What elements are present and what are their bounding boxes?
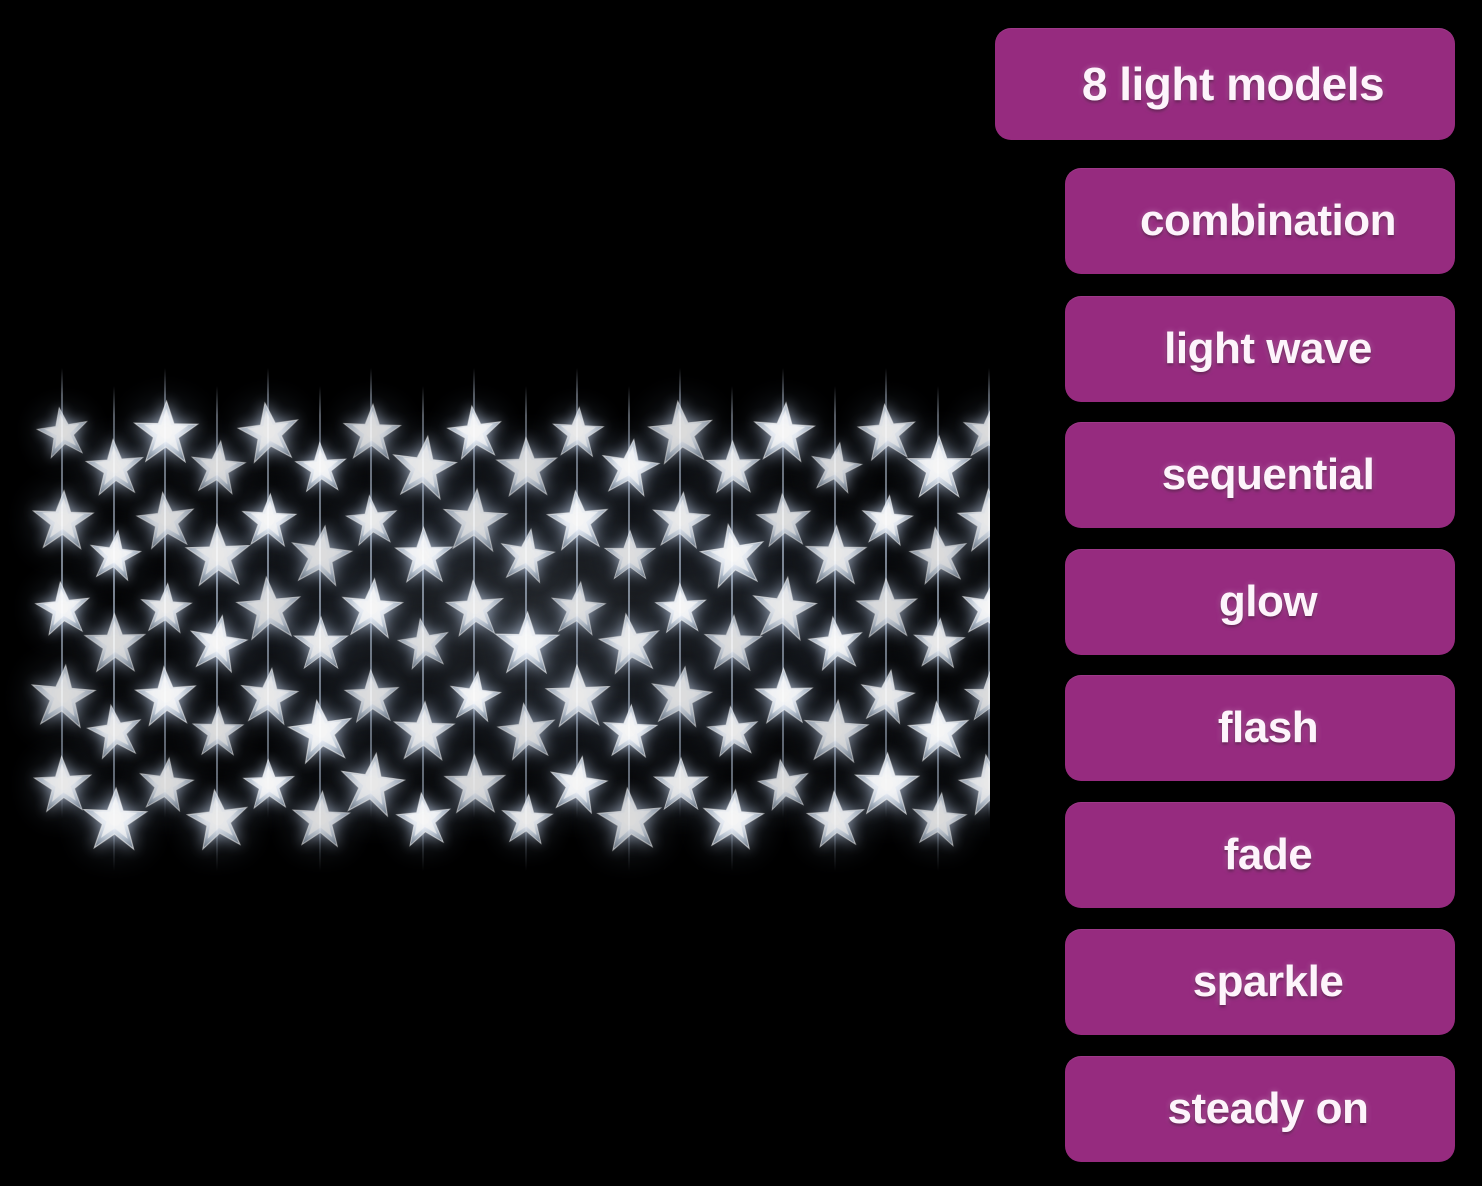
feature-chip-steady-on: steady on — [1065, 1056, 1455, 1162]
star-light — [703, 703, 761, 760]
feature-chip-fade: fade — [1065, 802, 1455, 908]
star-light — [239, 491, 299, 549]
feature-chip-label: combination — [1140, 196, 1396, 246]
feature-chip-label: sequential — [1162, 450, 1375, 500]
feature-chip-sparkle: sparkle — [1065, 929, 1455, 1035]
star-light — [963, 670, 990, 722]
star-light — [956, 575, 990, 641]
star-light — [698, 786, 767, 853]
feature-chip-label: glow — [1219, 577, 1317, 627]
feature-chip-label: light wave — [1164, 324, 1372, 374]
star-light — [132, 663, 200, 729]
star-light — [494, 435, 560, 499]
star-light — [241, 757, 296, 810]
product-photo — [0, 0, 990, 1186]
star-light — [82, 612, 147, 675]
feature-chip-light-wave: light wave — [1065, 296, 1455, 402]
star-light — [959, 402, 990, 462]
star-light — [805, 437, 866, 496]
star-light — [443, 753, 508, 816]
feature-chip-glow: glow — [1065, 549, 1455, 655]
feature-chip-label: 8 light models — [1082, 57, 1384, 111]
feature-chip-label: steady on — [1168, 1084, 1369, 1134]
feature-chip-combination: combination — [1065, 168, 1455, 274]
star-light — [85, 526, 144, 584]
star-light — [550, 405, 606, 459]
feature-chip-label: sparkle — [1193, 957, 1344, 1007]
star-light — [293, 440, 349, 494]
star-light — [544, 487, 613, 554]
star-light — [653, 581, 709, 635]
feature-chip-label: flash — [1218, 703, 1318, 753]
feature-label-list: 8 light modelscombinationlight waveseque… — [990, 0, 1482, 1186]
star-light — [653, 757, 710, 812]
feature-chip-8-light-models: 8 light models — [995, 28, 1455, 140]
star-light — [343, 492, 401, 549]
star-light — [138, 580, 195, 635]
star-light — [750, 399, 818, 465]
feature-chip-flash: flash — [1065, 675, 1455, 781]
star-light — [854, 576, 920, 640]
product-feature-image: 8 light modelscombinationlight waveseque… — [0, 0, 1482, 1186]
star-light-curtain — [0, 0, 990, 1186]
star-light — [30, 488, 96, 552]
star-light — [955, 486, 990, 554]
star-light — [603, 529, 656, 581]
feature-chip-label: fade — [1224, 830, 1312, 880]
star-light — [393, 613, 454, 672]
feature-chip-sequential: sequential — [1065, 422, 1455, 528]
